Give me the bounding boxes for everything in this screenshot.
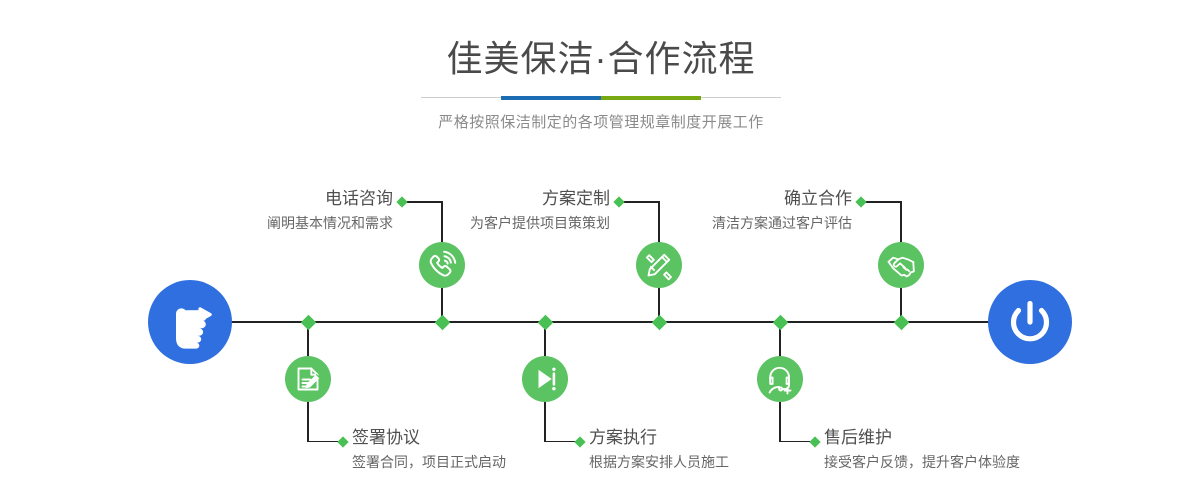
leader-v-phone-consult [441, 202, 443, 242]
label-desc-plan-custom: 为客户提供项目策策划 [360, 213, 610, 233]
node-icon-sign-agreement[interactable] [285, 356, 331, 402]
leader-v-plan-custom [658, 202, 660, 242]
pointing-hand-icon [148, 280, 232, 364]
axis-marker-phone-consult [434, 314, 450, 330]
leader-v-plan-execute [544, 402, 546, 442]
node-icon-plan-custom[interactable] [636, 242, 682, 288]
node-icon-plan-execute[interactable] [522, 356, 568, 402]
timeline-end-node[interactable] [988, 280, 1072, 364]
leader-h-plan-custom [622, 201, 660, 203]
label-phone-consult: 电话咨询 阐明基本情况和需求 [145, 188, 393, 233]
leader-tip-establish-coop [855, 196, 866, 207]
label-title-phone-consult: 电话咨询 [145, 188, 393, 210]
label-plan-execute: 方案执行 根据方案安排人员施工 [589, 427, 729, 472]
handshake-icon [878, 242, 924, 288]
label-desc-establish-coop: 清洁方案通过客户评估 [602, 213, 852, 233]
axis-marker-plan-execute [537, 314, 553, 330]
label-desc-after-sales: 接受客户反馈，提升客户体验度 [824, 452, 1020, 472]
label-after-sales: 售后维护 接受客户反馈，提升客户体验度 [824, 427, 1020, 472]
label-desc-phone-consult: 阐明基本情况和需求 [145, 213, 393, 233]
timeline-start-node[interactable] [148, 280, 232, 364]
leader-tip-plan-execute [574, 436, 585, 447]
pencil-ruler-icon [636, 242, 682, 288]
leader-h-establish-coop [864, 201, 902, 203]
leader-v-sign-agreement [307, 402, 309, 442]
document-pencil-icon [285, 356, 331, 402]
node-icon-establish-coop[interactable] [878, 242, 924, 288]
node-icon-after-sales[interactable] [757, 356, 803, 402]
phone-call-icon [419, 242, 465, 288]
label-title-plan-execute: 方案执行 [589, 427, 729, 449]
timeline-axis [150, 321, 1052, 323]
node-icon-phone-consult[interactable] [419, 242, 465, 288]
play-forward-icon [522, 356, 568, 402]
label-title-after-sales: 售后维护 [824, 427, 1020, 449]
axis-marker-after-sales [772, 314, 788, 330]
axis-marker-plan-custom [651, 314, 667, 330]
label-title-sign-agreement: 签署协议 [352, 427, 506, 449]
leader-tip-sign-agreement [337, 436, 348, 447]
label-plan-custom: 方案定制 为客户提供项目策策划 [360, 188, 610, 233]
label-desc-sign-agreement: 签署合同，项目正式启动 [352, 452, 506, 472]
leader-tip-after-sales [809, 436, 820, 447]
axis-marker-establish-coop [893, 314, 909, 330]
process-flow-infographic: 佳美保洁·合作流程 严格按照保洁制定的各项管理规章制度开展工作 [0, 0, 1202, 502]
label-title-establish-coop: 确立合作 [602, 188, 852, 210]
headset-support-icon [757, 356, 803, 402]
timeline: 签署协议 签署合同，项目正式启动 电话咨询 阐明基本情况和需求 [0, 0, 1202, 502]
axis-marker-sign-agreement [300, 314, 316, 330]
leader-v-establish-coop [900, 202, 902, 242]
label-establish-coop: 确立合作 清洁方案通过客户评估 [602, 188, 852, 233]
leader-h-phone-consult [405, 201, 443, 203]
label-desc-plan-execute: 根据方案安排人员施工 [589, 452, 729, 472]
power-icon [988, 280, 1072, 364]
label-sign-agreement: 签署协议 签署合同，项目正式启动 [352, 427, 506, 472]
leader-v-after-sales [779, 402, 781, 442]
